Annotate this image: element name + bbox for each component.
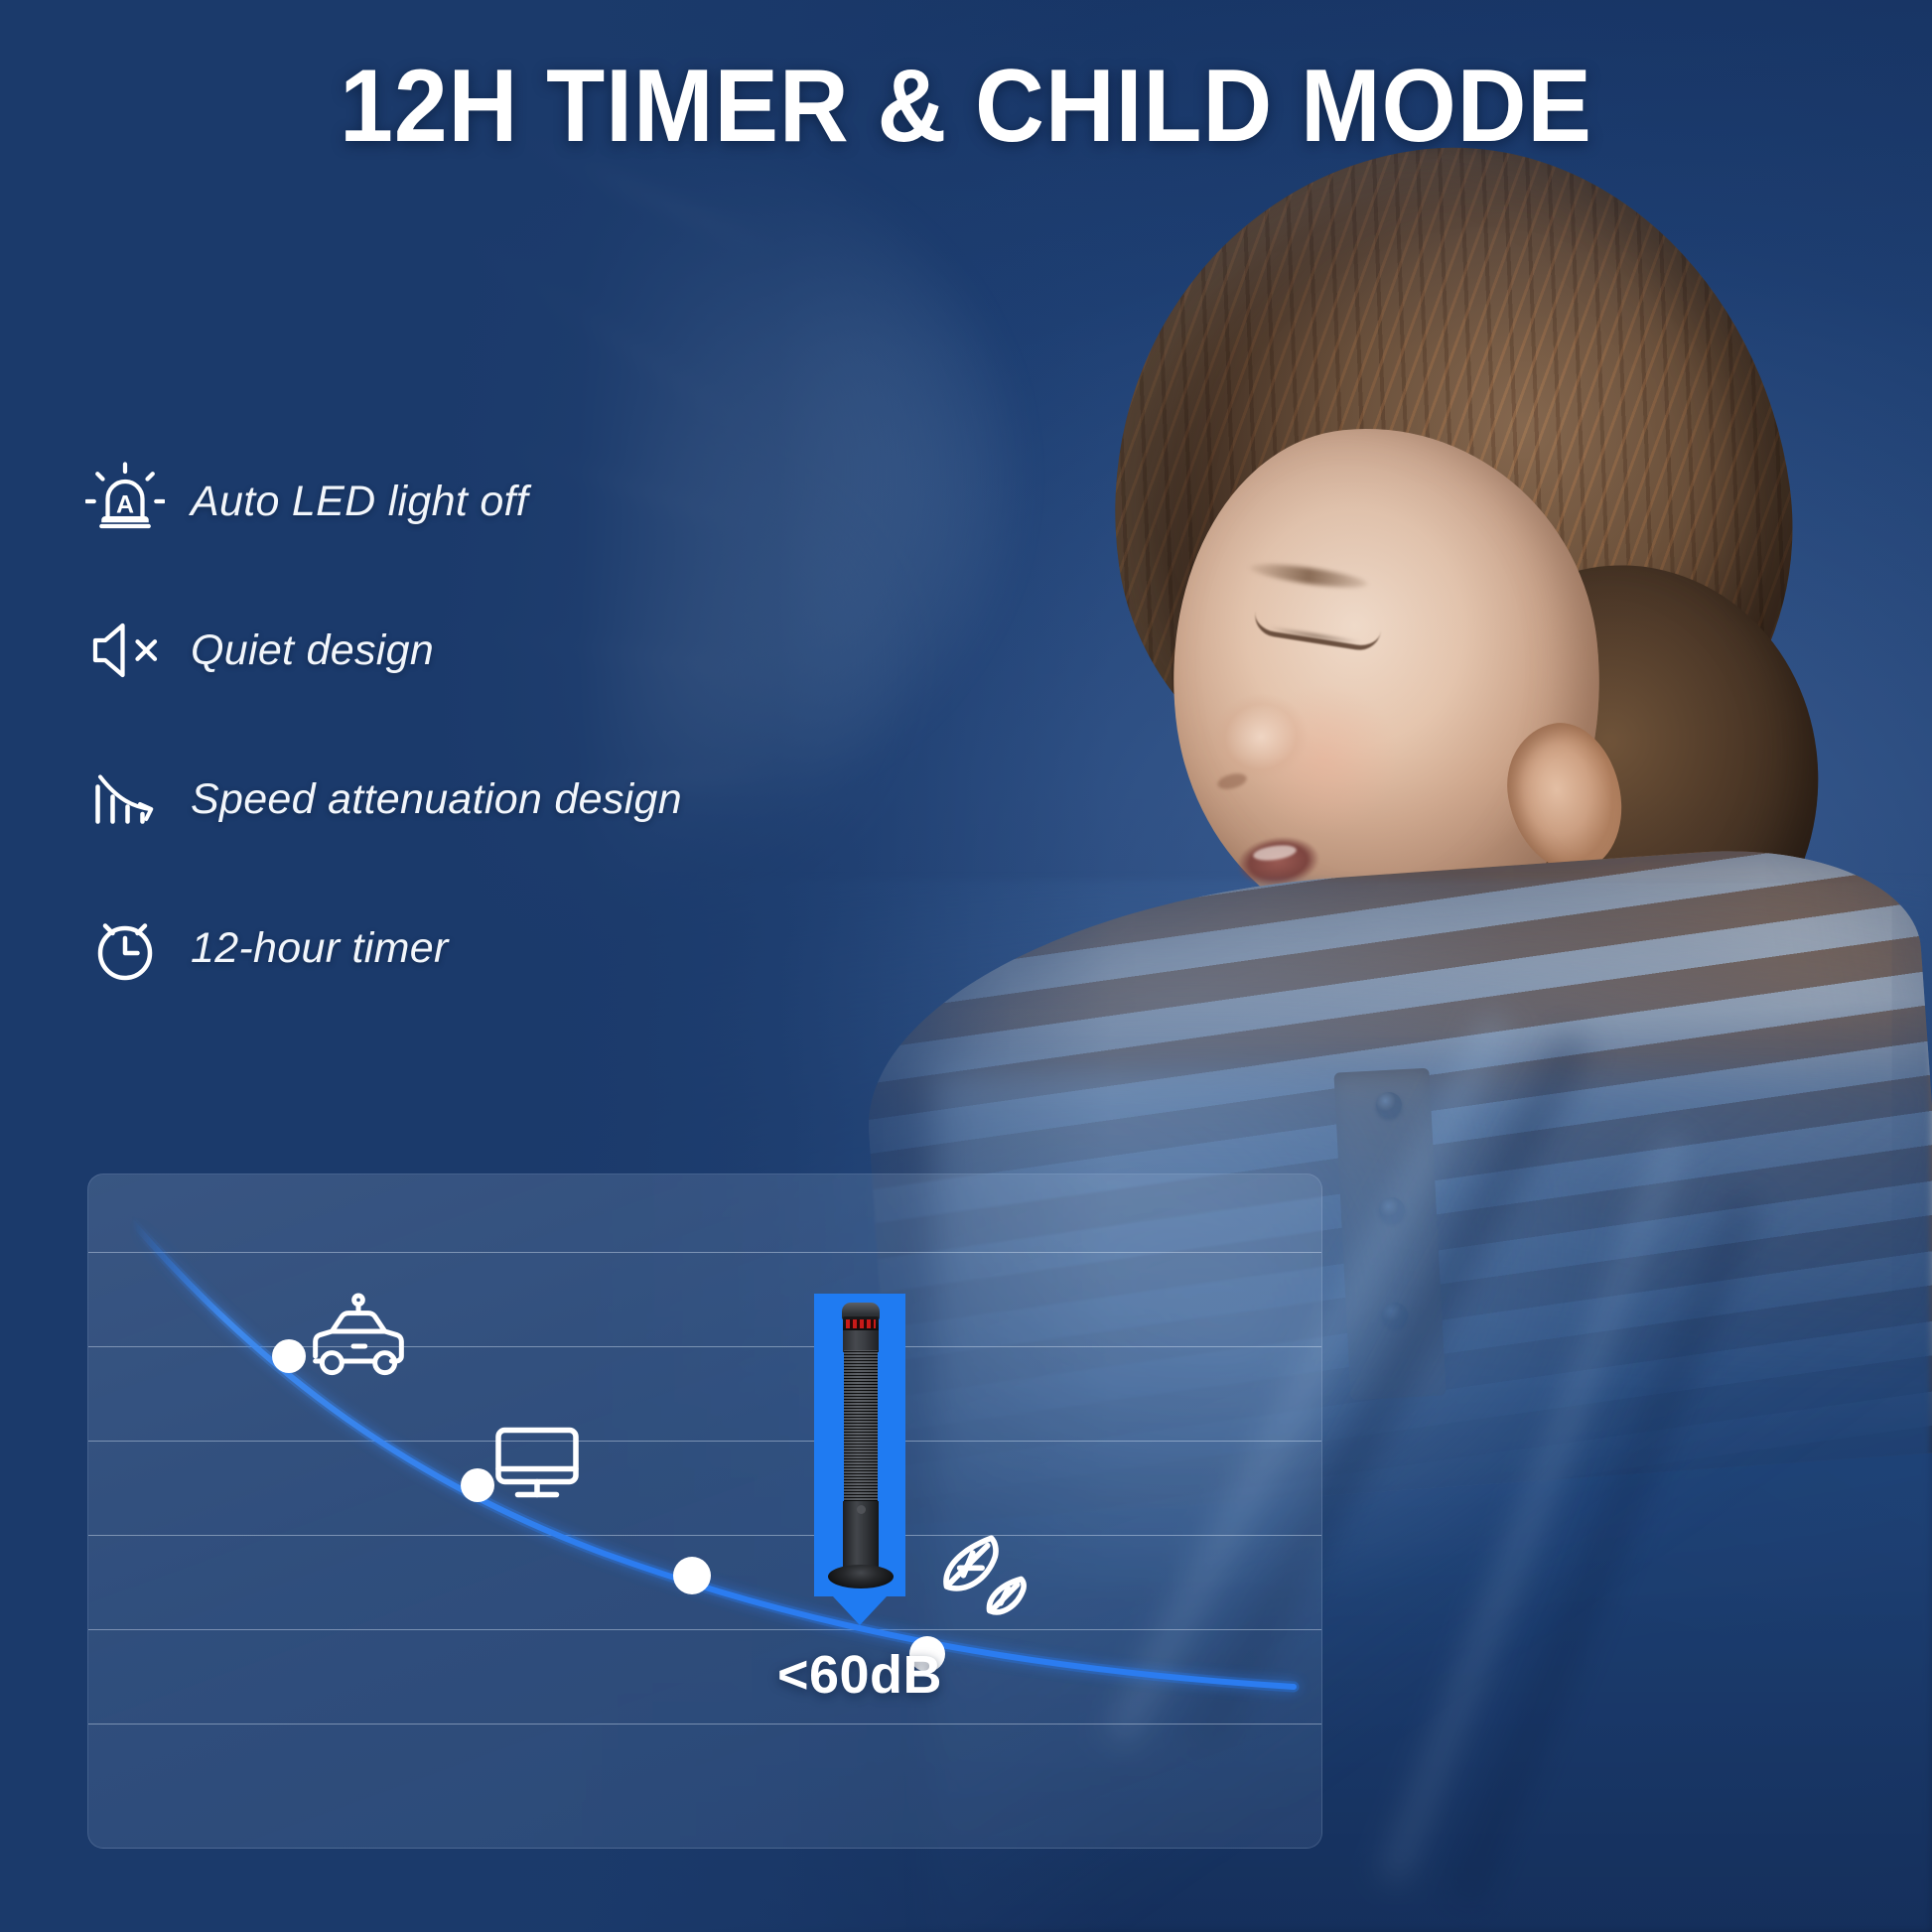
auto-beacon-light-icon: A (73, 462, 177, 541)
page-title: 12H TIMER & CHILD MODE (68, 48, 1864, 166)
data-point-product (673, 1557, 711, 1594)
feature-item-auto-led-light-off: A Auto LED light off (73, 427, 828, 576)
fan-base (828, 1565, 894, 1588)
product-callout-pointer (832, 1595, 888, 1625)
feature-item-quiet-design: Quiet design (73, 576, 828, 725)
noise-comparison-panel (87, 1173, 1322, 1849)
muted-speaker-icon (73, 611, 177, 690)
feature-item-speed-attenuation-design: Speed attenuation design (73, 725, 828, 874)
feature-label: Speed attenuation design (191, 775, 682, 824)
fan-brand-mark (857, 1505, 866, 1514)
desktop-monitor-icon (485, 1411, 589, 1514)
fan-upper-body (843, 1330, 879, 1352)
decibel-callout-label: <60dB (701, 1644, 1019, 1706)
feature-item-12-hour-timer: 12-hour timer (73, 874, 828, 1023)
leaves-icon (924, 1527, 1043, 1646)
police-car-icon (299, 1282, 418, 1391)
feature-label: Auto LED light off (191, 478, 528, 526)
product-feature-banner: 12H TIMER & CHILD MODE A Auto LED light … (0, 0, 1932, 1932)
fan-mesh-grille (844, 1350, 878, 1507)
svg-text:A: A (116, 490, 134, 518)
descending-bar-chart-icon (73, 759, 177, 839)
feature-label: 12-hour timer (191, 924, 449, 973)
noise-curve-chart (88, 1174, 1323, 1850)
alarm-clock-icon (73, 908, 177, 988)
feature-list: A Auto LED light off Quiet design (73, 427, 828, 1023)
feature-label: Quiet design (191, 626, 434, 675)
tower-fan-product-image (826, 1303, 896, 1588)
